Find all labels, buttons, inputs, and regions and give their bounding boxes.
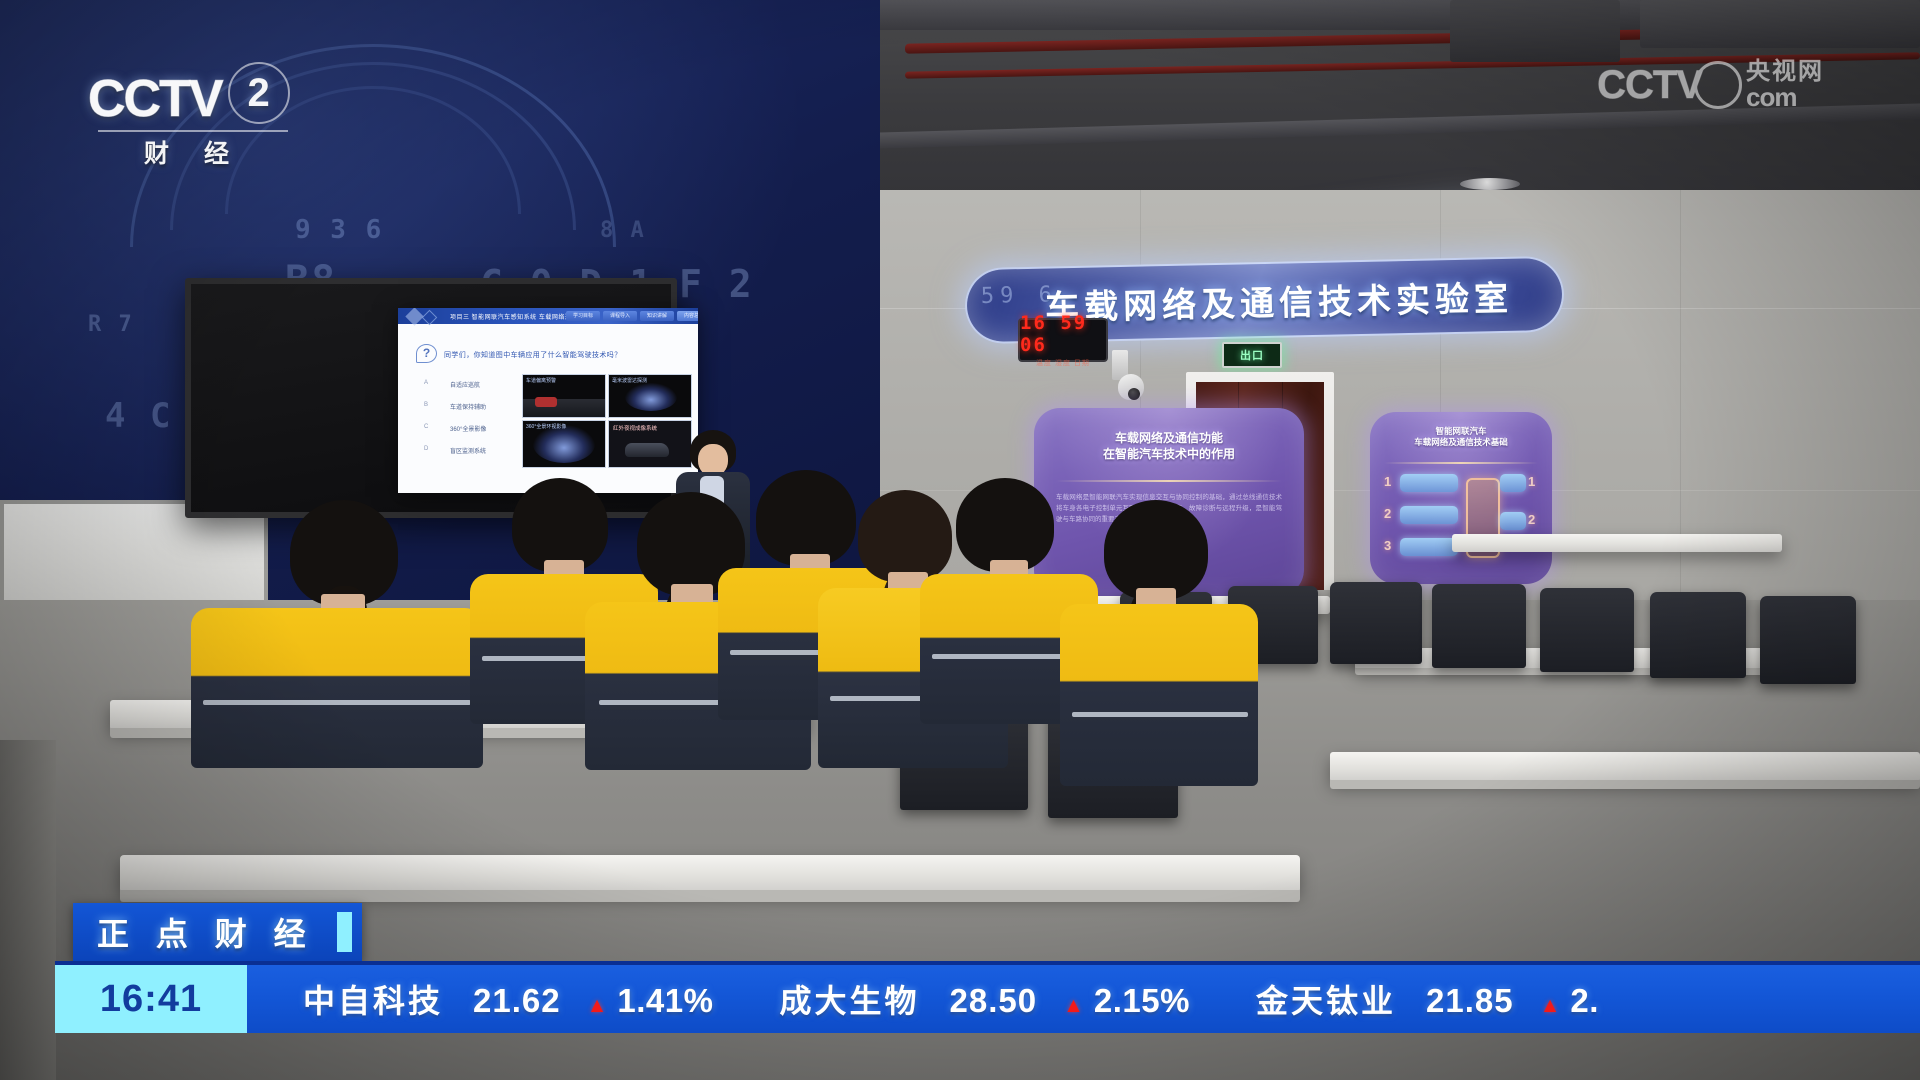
ticker-stock-item[interactable]: 成大生物 28.50 ▲ 2.15% xyxy=(779,976,1189,1022)
uniform-reflective-stripe xyxy=(1072,712,1248,717)
slide-option-text: 自适应巡航 xyxy=(450,380,480,389)
program-title-text: 正 点 财 经 xyxy=(97,909,315,955)
cctv-com-watermark: CCTV 央视网 com xyxy=(1597,60,1824,110)
panel-right-item-number: 2 xyxy=(1528,512,1535,527)
watermark-cctv-text: CCTV xyxy=(1597,63,1702,108)
ticker-stock-item[interactable]: 中自科技 21.62 ▲ 1.41% xyxy=(303,976,713,1022)
panel-item-number: 2 xyxy=(1384,506,1391,521)
chair xyxy=(1760,596,1856,684)
program-title-accent-bar xyxy=(337,912,352,952)
panel-item-chip xyxy=(1500,474,1526,492)
stock-up-arrow-icon: ▲ xyxy=(587,995,608,1016)
student xyxy=(185,500,485,760)
slide-image-surround-view: 360°全景环视影像 xyxy=(522,420,606,468)
camera-lens-icon xyxy=(1128,388,1140,400)
exhibit-panel-1-title: 车载网络及通信功能 在智能汽车技术中的作用 xyxy=(1034,430,1304,462)
chair xyxy=(1330,582,1422,664)
stock-name: 成大生物 xyxy=(779,976,919,1022)
ticker-clock-text: 16:41 xyxy=(100,978,202,1021)
slide-option-text: 车道保持辅助 xyxy=(450,402,486,411)
slide-image-caption: 车道偏离预警 xyxy=(526,377,556,384)
stock-up-arrow-icon: ▲ xyxy=(1063,995,1084,1016)
car-shape xyxy=(535,397,557,407)
channel-number-badge: 2 xyxy=(228,62,290,124)
ceiling-speaker xyxy=(1460,178,1520,190)
watermark-ring-icon xyxy=(1694,61,1742,109)
desk-edge xyxy=(1330,780,1920,789)
slide-tab-label: 课程导入 xyxy=(603,311,637,321)
student-hair xyxy=(1104,500,1208,600)
front-desk xyxy=(120,855,1300,893)
uniform-reflective-stripe xyxy=(203,700,471,705)
slide-image-radar: 毫米波雷达探测 xyxy=(608,374,692,418)
watermark-com-text: com xyxy=(1746,84,1824,110)
stock-change: 2.15% xyxy=(1094,982,1190,1020)
slide-tab-2[interactable]: 知识讲解 xyxy=(640,311,674,321)
emergency-exit-sign: 出口 xyxy=(1222,342,1282,368)
stock-price: 21.62 xyxy=(473,982,561,1020)
wall-code-glyph: R 7 xyxy=(88,312,134,337)
slide-option-key: D xyxy=(424,446,428,452)
slide-question-text: 同学们，你知道图中车辆应用了什么智能驾驶技术吗？ xyxy=(444,350,622,360)
wall-code-glyph: 4 C xyxy=(105,396,172,436)
stock-name: 金天钛业 xyxy=(1256,976,1396,1022)
chair xyxy=(1540,588,1634,672)
channel-logo-rule xyxy=(98,130,288,132)
slide-image-caption: 红外夜视成像系统 xyxy=(613,424,657,432)
exhibit-panel-2-title: 智能网联汽车 车载网络及通信技术基础 xyxy=(1370,426,1552,449)
student-uniform xyxy=(1060,604,1258,786)
student-uniform xyxy=(191,608,483,768)
led-clock-sublabel: 温度 湿度 日期 xyxy=(1036,358,1090,368)
panel-item-number: 1 xyxy=(1384,474,1391,489)
program-title-banner: 正 点 财 经 xyxy=(73,903,362,961)
watermark-cn-text: 央视网 xyxy=(1746,60,1824,84)
panel-divider xyxy=(1384,462,1538,464)
led-clock-display: 16 59 06 温度 湿度 日期 xyxy=(1018,318,1108,362)
wall-code-glyph: 9 3 6 xyxy=(295,215,383,245)
radar-visual xyxy=(625,383,677,411)
stock-price: 21.85 xyxy=(1426,982,1514,1020)
stock-ticker-bar: 16:41 中自科技 21.62 ▲ 1.41% 成大生物 28.50 ▲ 2.… xyxy=(55,961,1920,1033)
channel-logo-subtitle: 财 经 xyxy=(144,134,318,170)
question-mark-icon: ? xyxy=(416,344,437,363)
channel-logo-word: CCTV xyxy=(88,75,222,124)
slide-tab-label: 学习目标 xyxy=(566,311,600,321)
ticker-clock: 16:41 xyxy=(55,965,247,1033)
slide-tab-3[interactable]: 内容总结 xyxy=(677,311,698,321)
lab-sign-text: 车载网络及通信技术实验室 xyxy=(1045,270,1514,329)
slide-image-caption: 360°全景环视影像 xyxy=(526,423,566,430)
slide-option-text: 360°全景影像 xyxy=(450,424,486,433)
slide-tab-0[interactable]: 学习目标 xyxy=(566,311,600,321)
desk xyxy=(1330,752,1920,782)
panel-right-item-number: 1 xyxy=(1528,474,1535,489)
exit-sign-label: 出口 xyxy=(1240,347,1264,363)
panel-item-number: 3 xyxy=(1384,538,1391,553)
ticker-stock-list: 中自科技 21.62 ▲ 1.41% 成大生物 28.50 ▲ 2.15% 金天… xyxy=(247,976,1920,1022)
projector-slide: 项目三 智能网联汽车感知系统 车载网络通信技术 学习目标 课程导入 知识讲解 内… xyxy=(398,308,698,493)
ceiling-duct xyxy=(1640,0,1920,48)
stock-price: 28.50 xyxy=(950,982,1038,1020)
student-hair xyxy=(956,478,1054,572)
slide-tab-1[interactable]: 课程导入 xyxy=(603,311,637,321)
stock-change: 2. xyxy=(1570,982,1599,1020)
slide-option-key: A xyxy=(424,380,428,386)
slide-tab-label: 知识讲解 xyxy=(640,311,674,321)
ticker-stock-item[interactable]: 金天钛业 21.85 ▲ 2. xyxy=(1256,976,1599,1022)
surround-view-visual xyxy=(533,425,595,463)
broadcast-frame: B8 9 3 6 C 0 D 1 F 2 4 C R 7 8 A 59 6 车载… xyxy=(0,0,1920,1080)
chair xyxy=(1650,592,1746,678)
ceiling-duct xyxy=(1450,0,1620,62)
front-desk-edge xyxy=(120,890,1300,902)
wall-code-glyph: 8 A xyxy=(600,218,646,243)
slide-option-key: C xyxy=(424,424,428,430)
chair xyxy=(1432,584,1526,668)
student xyxy=(1060,500,1260,800)
stock-change: 1.41% xyxy=(617,982,713,1020)
slide-image-caption: 毫米波雷达探测 xyxy=(612,377,647,384)
channel-logo: CCTV 2 财 经 xyxy=(88,62,318,170)
car-shape xyxy=(625,443,669,457)
slide-image-road: 车道偏离预警 xyxy=(522,374,606,418)
desk xyxy=(1452,534,1782,552)
led-clock-digits: 16 59 06 xyxy=(1020,312,1106,356)
panel-item-chip xyxy=(1400,506,1458,524)
slide-tab-label: 内容总结 xyxy=(677,311,698,321)
panel-item-chip xyxy=(1400,474,1458,492)
slide-option-text: 盲区监测系统 xyxy=(450,446,486,455)
left-pillar xyxy=(0,740,56,1080)
stock-name: 中自科技 xyxy=(303,976,443,1022)
exhibit-panel-2: 智能网联汽车 车载网络及通信技术基础 1 2 3 1 2 xyxy=(1370,412,1552,584)
panel-item-chip xyxy=(1500,512,1526,530)
slide-option-key: B xyxy=(424,402,428,408)
panel-item-chip xyxy=(1400,538,1458,556)
channel-logo-number: 2 xyxy=(247,71,269,116)
stock-up-arrow-icon: ▲ xyxy=(1540,995,1561,1016)
